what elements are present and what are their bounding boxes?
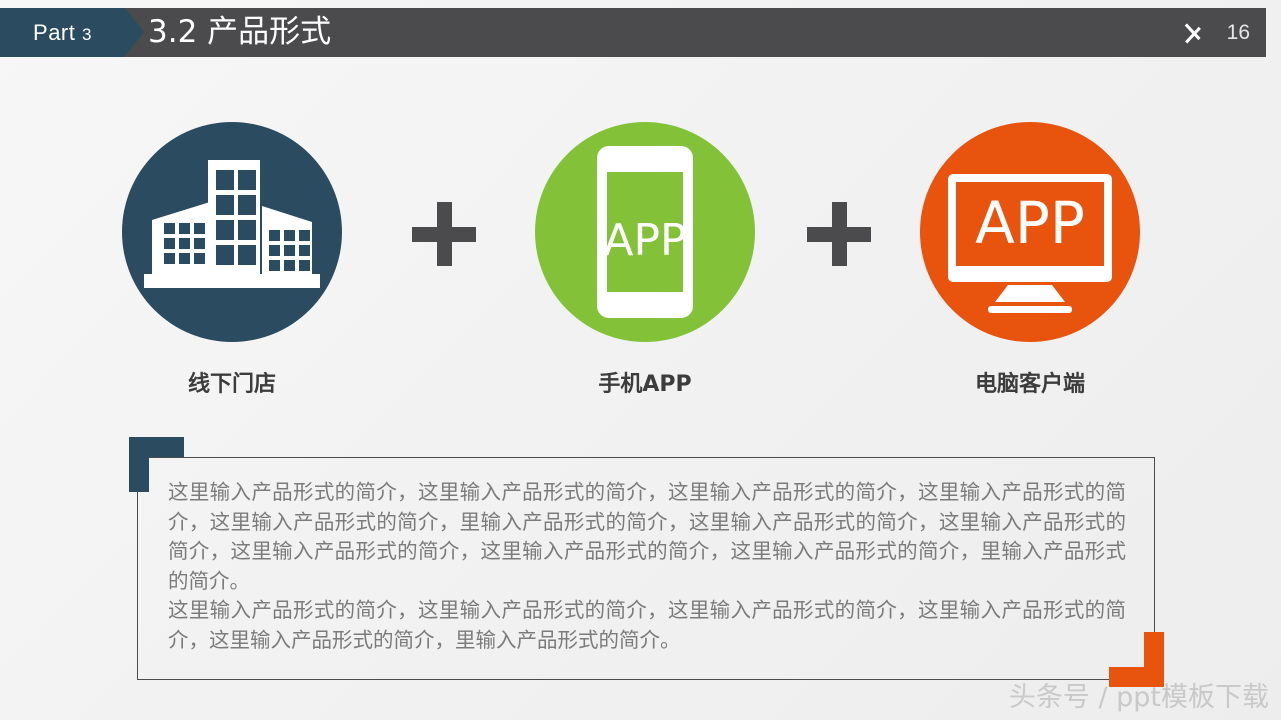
plus-separator-1 bbox=[412, 202, 476, 266]
part-label-number: 3 bbox=[82, 25, 92, 44]
plus-separator-2 bbox=[807, 202, 871, 266]
product-forms-row: 线下门店 bbox=[0, 122, 1281, 392]
part-label: Part 3 bbox=[0, 8, 125, 57]
product-form-label: 手机APP bbox=[525, 366, 765, 398]
description-paragraph-2: 这里输入产品形式的简介，这里输入产品形式的简介，这里输入产品形式的简介，这里输入… bbox=[168, 596, 1126, 655]
smartphone-screen-text: APP bbox=[603, 215, 686, 266]
description-paragraph-1: 这里输入产品形式的简介，这里输入产品形式的简介，这里输入产品形式的简介，这里输入… bbox=[168, 478, 1126, 596]
description-text: 这里输入产品形式的简介，这里输入产品形式的简介，这里输入产品形式的简介，这里输入… bbox=[168, 478, 1126, 655]
buildings-icon bbox=[122, 122, 342, 342]
part-label-word: Part bbox=[33, 20, 75, 45]
slide-header: Part 3 3.2 产品形式 16 bbox=[0, 8, 1266, 57]
product-form-label: 电脑客户端 bbox=[910, 366, 1150, 398]
watermark: 头条号 / ppt模板下载 bbox=[1009, 675, 1269, 714]
page-title: 3.2 产品形式 bbox=[148, 8, 331, 57]
page-number: 16 bbox=[1227, 8, 1250, 57]
product-form-item-desktop-client[interactable]: APP 电脑客户端 bbox=[910, 122, 1150, 398]
product-form-label: 线下门店 bbox=[112, 366, 352, 398]
product-form-item-offline-store[interactable]: 线下门店 bbox=[112, 122, 352, 398]
chevron-right-icon bbox=[1186, 15, 1204, 50]
smartphone-app-icon: APP bbox=[535, 122, 755, 342]
part-badge-chevron-icon bbox=[125, 8, 144, 56]
slide: Part 3 3.2 产品形式 16 bbox=[0, 0, 1281, 720]
monitor-screen-text: APP bbox=[975, 189, 1085, 257]
desktop-monitor-app-icon: APP bbox=[920, 122, 1140, 342]
product-form-item-mobile-app[interactable]: APP 手机APP bbox=[525, 122, 765, 398]
